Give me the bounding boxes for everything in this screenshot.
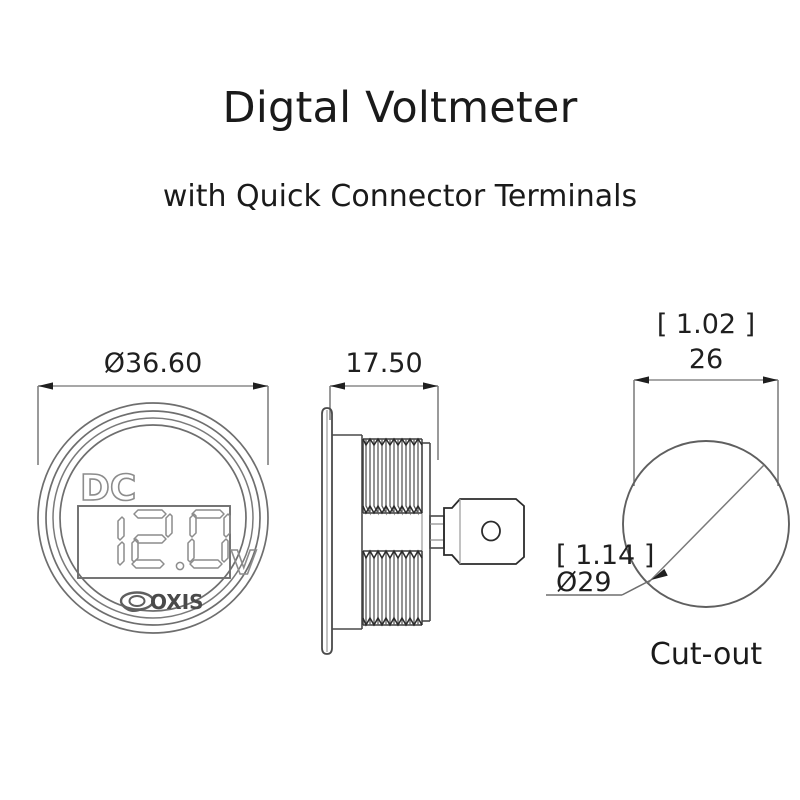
- terminal-hole: [482, 522, 500, 541]
- page-subtitle: with Quick Connector Terminals: [0, 181, 800, 213]
- brand-logo-text: OXIS: [150, 590, 204, 614]
- quick-connect-terminal: [444, 499, 524, 564]
- cutout-diameter-mm-label: Ø29: [556, 567, 612, 598]
- cutout-caption: Cut-out: [650, 637, 762, 672]
- display-mode-label: DC: [80, 468, 136, 509]
- cutout-width-dimension: [ 1.02 ] 26: [634, 309, 778, 486]
- segment-digit-1: [118, 517, 124, 565]
- segment-digit-0: [188, 510, 230, 568]
- front-view-dimension-label: Ø36.60: [104, 348, 203, 379]
- cutout-width-inch-label: [ 1.02 ]: [657, 309, 755, 340]
- brand-logo: OXIS: [121, 590, 204, 614]
- segment-digit-2: [132, 510, 172, 568]
- rear-boss: [430, 516, 444, 548]
- thread-lower: [363, 551, 422, 625]
- cut-out-view: [ 1.02 ] 26 [ 1.14 ] Ø29 Cut-out: [546, 309, 789, 672]
- front-view: Ø36.60 DC: [38, 348, 268, 633]
- cutout-width-mm-label: 26: [689, 344, 723, 375]
- page-title: Digtal Voltmeter: [0, 86, 800, 131]
- title-block: Digtal Voltmeter: [0, 86, 800, 131]
- thread-upper: [363, 439, 422, 513]
- cutout-diameter-dimension: [ 1.14 ] Ø29: [546, 540, 654, 598]
- display-unit-label: V: [231, 543, 257, 582]
- flange-plate: [322, 408, 332, 654]
- lcd-window: [78, 506, 230, 578]
- side-view: 17.50: [322, 348, 524, 654]
- technical-drawing: Ø36.60 DC: [0, 300, 800, 720]
- display-reading: [118, 510, 230, 570]
- side-view-dimension-label: 17.50: [345, 348, 422, 379]
- body-barrel: [332, 435, 430, 629]
- drawing-sheet: Digtal Voltmeter with Quick Connector Te…: [0, 0, 800, 800]
- cutout-diameter-line: [648, 465, 764, 583]
- segment-decimal-point: [176, 562, 183, 569]
